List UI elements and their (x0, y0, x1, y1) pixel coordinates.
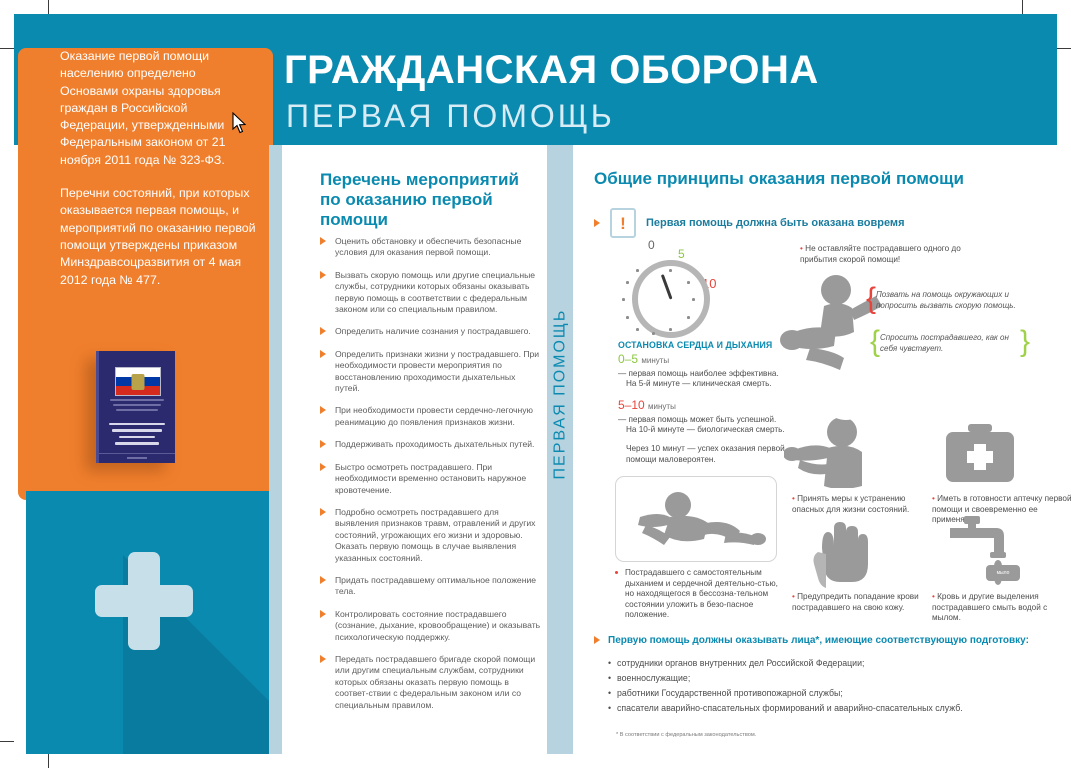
list-item: Подробно осмотреть пострадавшего для выя… (320, 507, 542, 564)
triangle-bullet-icon (594, 636, 600, 644)
recovery-position-icon (626, 489, 766, 549)
exclamation-icon: ! (610, 208, 636, 238)
clock-diagram: 0 5 10 (618, 238, 728, 348)
triangle-bullet-icon (320, 327, 326, 335)
rescuer-icon (784, 412, 888, 488)
triangle-bullet-icon (320, 463, 326, 471)
book-title-lines (109, 423, 165, 449)
qualified-persons-list: сотрудники органов внутренних дел Россий… (594, 656, 1049, 716)
cardiac-line-2a: — первая помощь может быть успешной. (618, 415, 798, 426)
triangle-bullet-icon (320, 508, 326, 516)
cardiac-block-1: 0–5 минуты — первая помощь наиболее эффе… (618, 354, 798, 390)
list-item: При необходимости провести сердечно‑лего… (320, 405, 542, 428)
bottom-section: Первую помощь должны оказывать лица*, им… (594, 634, 1049, 738)
tip-1: • Принять меры к устранению опасных для … (792, 494, 932, 515)
list-item: Поддерживать проходимость дыхательных пу… (320, 439, 542, 450)
timeliness-row: ! Первая помощь должна быть оказана вовр… (594, 208, 1034, 238)
brace-call-for-help: { Позвать на помощь окружающих и попроси… (876, 289, 1026, 311)
recovery-position-caption: Пострадавшего с самостоятельным дыханием… (625, 568, 778, 619)
clock-tick-5: 5 (678, 247, 685, 261)
right-column-heading: Общие принципы оказания первой помощи (594, 169, 964, 189)
triangle-bullet-icon (320, 350, 326, 358)
list-item: Передать пострадавшего бригаде скорой по… (320, 654, 542, 711)
vertical-tab-label: ПЕРВАЯ ПОМОЩЬ (552, 287, 570, 502)
list-item: Быстро осмотреть пострадавшего. При необ… (320, 462, 542, 496)
brace-ask-victim: { } Спросить пострадавшего, как он себя … (880, 332, 1022, 354)
cardiac-arrest-heading: ОСТАНОВКА СЕРДЦА И ДЫХАНИЯ (618, 340, 772, 350)
triangle-bullet-icon (594, 219, 600, 227)
book-cover-image (96, 351, 175, 463)
list-item: военнослужащие; (608, 671, 1049, 686)
page-title: ГРАЖДАНСКАЯ ОБОРОНА (284, 50, 819, 90)
legal-panel-text: Оказание первой помощи населению определ… (60, 48, 256, 305)
list-item: работники Государственной противопожарно… (608, 686, 1049, 701)
list-item: Придать пострадавшему оптимальное положе… (320, 575, 542, 598)
bullet-do-not-leave-alone: • Не оставляйте пострадавшего одного до … (800, 244, 980, 265)
glove-icon (810, 522, 872, 592)
soap-bar-icon: мыло (986, 565, 1020, 581)
cardiac-units-1: минуты (641, 356, 669, 365)
triangle-bullet-icon (320, 655, 326, 663)
list-item: Определить признаки жизни у пострадавшег… (320, 349, 542, 395)
triangle-bullet-icon (320, 576, 326, 584)
triangle-bullet-icon (320, 610, 326, 618)
legal-paragraph-2: Перечни состояний, при которых оказывает… (60, 185, 256, 289)
page-subtitle: ПЕРВАЯ ПОМОЩЬ (286, 100, 615, 132)
list-item: Оценить обстановку и обеспечить безопасн… (320, 236, 542, 259)
cardiac-units-2: минуты (648, 402, 676, 411)
triangle-bullet-icon (320, 271, 326, 279)
poster-canvas: ГРАЖДАНСКАЯ ОБОРОНА ПЕРВАЯ ПОМОЩЬ Оказан… (14, 14, 1057, 754)
coat-of-arms-icon (132, 374, 145, 390)
first-aid-steps-list: Оценить обстановку и обеспечить безопасн… (320, 236, 542, 722)
soap-label: мыло (997, 570, 1010, 576)
tip-4: • Кровь и другие выделения пострадавшего… (932, 592, 1071, 624)
timeliness-label: Первая помощь должна быть оказана воврем… (646, 217, 905, 229)
cardiac-line-2b: На 10‑й минуте — биологическая смерть. (618, 425, 798, 436)
russian-flag-icon (115, 367, 161, 396)
clock-tick-0: 0 (648, 238, 655, 252)
left-column-heading: Перечень мероприятий по оказанию первой … (320, 170, 535, 230)
bottom-heading: Первую помощь должны оказывать лица*, им… (594, 634, 1049, 647)
cardiac-note: Через 10 минут — успех оказания первой п… (618, 444, 806, 465)
recovery-position-caption-wrap: Пострадавшего с самостоятельным дыханием… (615, 568, 783, 621)
cardiac-range-1: 0–5 (618, 352, 638, 366)
list-item: Определить наличие сознания у пострадавш… (320, 326, 542, 337)
list-item: Вызвать скорую помощь или другие специал… (320, 270, 542, 316)
triangle-bullet-icon (320, 237, 326, 245)
cardiac-range-2: 5–10 (618, 398, 645, 412)
legal-paragraph-1: Оказание первой помощи населению определ… (60, 48, 256, 169)
list-item: Контролировать состояние пострадавшего (… (320, 609, 542, 643)
list-item: сотрудники органов внутренних дел Россий… (608, 656, 1049, 671)
cardiac-line-1a: — первая помощь наиболее эффективна. (618, 369, 798, 380)
vertical-section-tab: ПЕРВАЯ ПОМОЩЬ (547, 145, 573, 754)
cross-panel (26, 491, 269, 754)
bottom-footnote: * В соответствии с федеральным законодат… (594, 732, 1049, 738)
triangle-bullet-icon (320, 406, 326, 414)
triangle-bullet-icon (320, 440, 326, 448)
mouse-cursor (232, 112, 248, 134)
cardiac-block-2: 5–10 минуты — первая помощь может быть у… (618, 400, 798, 436)
tip-3: • Предупредить попадание крови пострадав… (792, 592, 932, 613)
recovery-position-box (615, 476, 777, 562)
medical-cross-icon (95, 552, 193, 650)
cardiac-line-1b: На 5‑й минуте — клиническая смерть. (618, 379, 798, 390)
book-publisher-lines (110, 399, 164, 414)
list-item: спасатели аварийно‑спасательных формиров… (608, 701, 1049, 716)
first-aid-kit-icon (942, 422, 1018, 488)
